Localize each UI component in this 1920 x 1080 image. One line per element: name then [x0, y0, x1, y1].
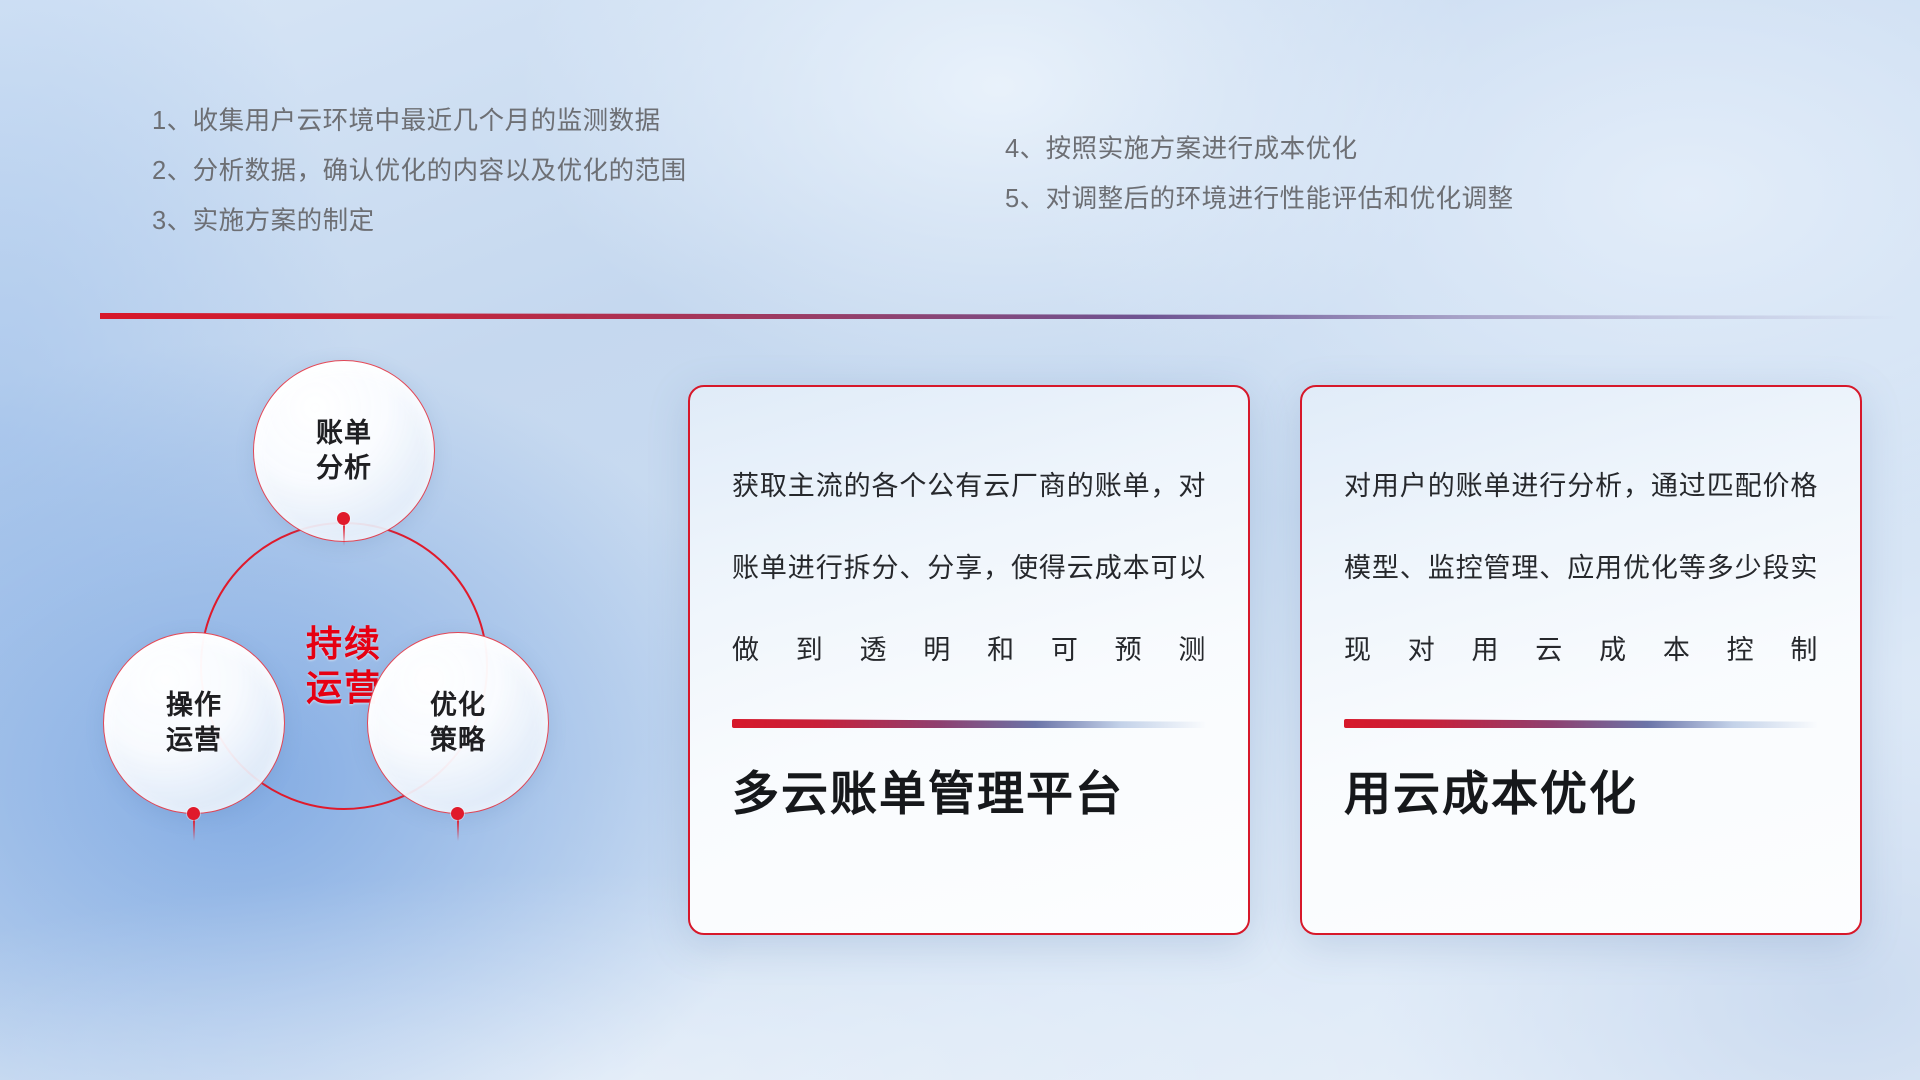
venn-bubble-label-line-1: 优化: [430, 688, 486, 723]
card-multi-cloud-billing-platform[interactable]: 获取主流的各个公有云厂商的账单，对账单进行拆分、分享，使得云成本可以做到透明和可…: [688, 385, 1250, 935]
steps-right-column: 4、按照实施方案进行成本优化 5、对调整后的环境进行性能评估和优化调整: [1005, 124, 1514, 224]
venn-bubble-label-line-2: 运营: [166, 723, 222, 758]
steps-section: 1、收集用户云环境中最近几个月的监测数据 2、分析数据，确认优化的内容以及优化的…: [0, 96, 1920, 256]
step-item-1: 1、收集用户云环境中最近几个月的监测数据: [152, 96, 687, 146]
card-divider: [1344, 719, 1818, 728]
venn-bubble-optimization-strategy[interactable]: 优化 策略: [367, 632, 549, 814]
connector-tail-left: [193, 819, 195, 841]
card-body-text: 对用户的账单进行分析，通过匹配价格模型、监控管理、应用优化等多少段实现对用云成本…: [1344, 445, 1818, 691]
card-title: 用云成本优化: [1344, 766, 1818, 822]
venn-bubble-operations[interactable]: 操作 运营: [103, 632, 285, 814]
connector-tail-right: [457, 819, 459, 841]
connector-tail-top: [343, 524, 345, 546]
venn-bubble-label-line-1: 操作: [166, 688, 222, 723]
card-body-text: 获取主流的各个公有云厂商的账单，对账单进行拆分、分享，使得云成本可以做到透明和可…: [732, 445, 1206, 691]
step-item-3: 3、实施方案的制定: [152, 196, 687, 246]
card-divider: [732, 719, 1206, 728]
venn-center-label-line-1: 持续: [306, 622, 382, 666]
connector-dot-top: [337, 512, 350, 525]
step-item-2: 2、分析数据，确认优化的内容以及优化的范围: [152, 146, 687, 196]
connector-dot-left: [187, 807, 200, 820]
venn-bubble-label-line-2: 分析: [316, 451, 372, 486]
step-item-4: 4、按照实施方案进行成本优化: [1005, 124, 1514, 174]
connector-dot-right: [451, 807, 464, 820]
venn-bubble-label-line-1: 账单: [316, 416, 372, 451]
card-cloud-cost-optimization[interactable]: 对用户的账单进行分析，通过匹配价格模型、监控管理、应用优化等多少段实现对用云成本…: [1300, 385, 1862, 935]
venn-diagram: 持续 运营 账单 分析 操作 运营 优化 策略: [95, 360, 625, 940]
steps-left-column: 1、收集用户云环境中最近几个月的监测数据 2、分析数据，确认优化的内容以及优化的…: [152, 96, 687, 246]
step-item-5: 5、对调整后的环境进行性能评估和优化调整: [1005, 174, 1514, 224]
card-title: 多云账单管理平台: [732, 766, 1206, 822]
venn-bubble-label-line-2: 策略: [430, 723, 486, 758]
